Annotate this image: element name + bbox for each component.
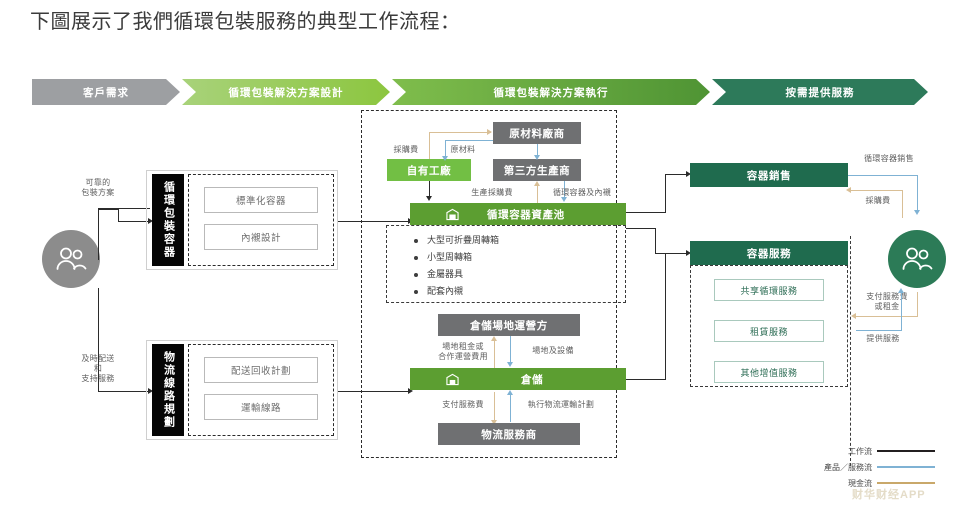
reliable-packaging-note-line1: 可靠的 (62, 178, 134, 188)
arrow-raw-material (442, 156, 448, 161)
own-factory-box[interactable]: 自有工廠 (387, 159, 471, 181)
right-dashed-divider (850, 236, 851, 466)
watermark: 财华财经APP (852, 486, 957, 502)
label-containers-and-liners: 循環容器及內襯 (545, 188, 619, 198)
line-purchase-fee-right-h (851, 190, 903, 191)
label-site-and-equipment: 場地及設備 (516, 346, 590, 356)
line-persona-corner-h (98, 209, 118, 210)
logistics-item-transport-route[interactable]: 運輸線路 (204, 394, 318, 420)
legend: 工作流 產品／服務流 現金流 (795, 443, 935, 491)
logistics-provider-box[interactable]: 物流服務商 (438, 423, 580, 445)
arrow-site-equipment (507, 362, 513, 367)
page-title: 下圖展示了我們循環包裝服務的典型工作流程： (30, 8, 930, 36)
line-pay-service-fee-center (494, 392, 495, 422)
label-pay-fee-line1: 支付服務費 (858, 292, 916, 302)
banner-step-4[interactable]: 按需提供服務 (712, 79, 928, 105)
bullet-dot (414, 256, 418, 260)
asset-item-row: 金屬器具 (414, 266, 614, 283)
line-purchase-fee-h (429, 132, 491, 133)
legend-line-workflow (877, 450, 935, 452)
arrow-purchase-fee (487, 129, 492, 135)
customer-persona-left (42, 230, 100, 288)
label-pay-fee-line2: 或租金 (858, 302, 916, 312)
line-persona-down-to-packaging (118, 208, 119, 222)
packaging-item-standard-container[interactable]: 標準化容器 (204, 187, 318, 213)
asset-item-row: 大型可折疊周轉箱 (414, 232, 614, 249)
banner-step-1[interactable]: 客戶需求 (32, 79, 180, 105)
label-site-rent-line2: 合作運營費用 (432, 352, 494, 362)
logistics-group-vertical-label: 物流線路規劃 (152, 344, 184, 436)
arrow-container-sales-flow (914, 210, 920, 215)
container-sales-box[interactable]: 容器銷售 (690, 163, 848, 187)
asset-item-4: 配套內襯 (427, 286, 463, 296)
line-center-in-bottom (362, 391, 410, 392)
line-container-sales-flow-v (917, 175, 918, 212)
asset-item-2: 小型周轉箱 (427, 252, 472, 262)
diagram-canvas: 下圖展示了我們循環包裝服務的典型工作流程： 客戶需求 循環包裝解決方案設計 循環… (0, 0, 960, 508)
legend-line-cash (877, 482, 935, 484)
arrow-purchase-fee-right (846, 187, 851, 193)
banner-step-3[interactable]: 循環包裝解決方案執行 (392, 79, 710, 105)
line-raw-material-h (445, 140, 493, 141)
line-pay-fee-or-rent-h (856, 316, 917, 317)
arrow-factory-to-pool (426, 196, 432, 201)
line-persona-corner-top (98, 208, 99, 222)
bullet-dot (414, 273, 418, 277)
warehouse-box[interactable]: 倉儲 (410, 368, 626, 390)
line-pool-to-services (655, 253, 689, 254)
line-provide-service-v (901, 292, 902, 330)
line-pay-fee-or-rent-v (917, 292, 918, 317)
packaging-group-vertical-label: 循環包裝容器 (152, 174, 184, 266)
label-provide-service: 提供服務 (852, 334, 914, 344)
reliable-packaging-note-line2: 包裝方案 (62, 188, 134, 198)
arrow-execute-transport (507, 390, 513, 395)
line-persona-down (98, 288, 99, 392)
line-execute-transport (510, 392, 511, 422)
line-site-equipment (510, 336, 511, 364)
warehouse-operator-box[interactable]: 倉儲場地運營方 (438, 314, 580, 336)
line-center-in-top (362, 221, 410, 222)
warehouse-label: 倉儲 (521, 372, 543, 387)
asset-item-3: 金屬器具 (427, 269, 463, 279)
packaging-item-liner-design[interactable]: 內襯設計 (204, 224, 318, 250)
label-execute-transport-plan: 執行物流運輸計劃 (514, 400, 608, 410)
line-warehouse-right (626, 379, 666, 380)
legend-row-product-service: 產品／服務流 (795, 459, 935, 475)
line-factory-to-pool (429, 181, 430, 197)
label-container-sales-flow: 循環容器銷售 (850, 154, 928, 164)
label-purchase-fee: 採購費 (383, 145, 429, 155)
line-pool-right (626, 212, 666, 213)
asset-item-row: 小型周轉箱 (414, 249, 614, 266)
container-services-box[interactable]: 容器服務 (690, 241, 848, 265)
label-raw-material: 原材料 (440, 145, 486, 155)
process-banner: 客戶需求 循環包裝解決方案設計 循環包裝解決方案執行 按需提供服務 (32, 79, 928, 105)
raw-material-supplier-box[interactable]: 原材料廠商 (493, 122, 581, 144)
banner-step-2-label: 循環包裝解決方案設計 (229, 85, 344, 100)
arrow-site-rent (491, 336, 497, 341)
label-site-rent: 場地租金或 合作運營費用 (432, 342, 494, 362)
legend-label-workflow: 工作流 (848, 446, 872, 457)
label-production-purchase-fee: 生產採購費 (452, 188, 532, 198)
line-provide-service-h (856, 330, 902, 331)
container-pool-icon (446, 208, 459, 221)
reliable-packaging-note: 可靠的 包裝方案 (62, 178, 134, 198)
banner-step-4-label: 按需提供服務 (786, 85, 855, 100)
legend-line-product-service (877, 466, 935, 468)
legend-label-product-service: 產品／服務流 (824, 462, 872, 473)
line-site-rent (494, 340, 495, 368)
bullet-dot (414, 239, 418, 243)
label-purchase-fee-right: 採購費 (850, 196, 906, 206)
line-packaging-to-center (338, 221, 362, 222)
line-pool-down-2 (655, 228, 656, 254)
warehouse-icon (446, 373, 459, 386)
arrow-rm-to-3p (534, 155, 540, 160)
asset-items-list: 大型可折疊周轉箱 小型周轉箱 金屬器具 配套內襯 (414, 232, 614, 300)
service-item-other-value-added[interactable]: 其他增值服務 (714, 361, 824, 383)
customer-persona-right (888, 230, 946, 288)
arrow-production-fee (534, 181, 540, 186)
service-item-shared-circulation[interactable]: 共享循環服務 (714, 279, 824, 301)
label-pay-service-fee-or-rent: 支付服務費 或租金 (858, 292, 916, 312)
logistics-item-delivery-recovery-plan[interactable]: 配送回收計劃 (204, 357, 318, 383)
asset-pool-label: 循環容器資產池 (487, 207, 565, 222)
third-party-manufacturer-box[interactable]: 第三方生產商 (493, 159, 581, 181)
arrow-pay-fee-or-rent (851, 313, 856, 319)
line-persona-corner-bottom (98, 391, 118, 392)
asset-pool-box[interactable]: 循環容器資產池 (410, 203, 626, 225)
customers-icon (54, 246, 88, 272)
arrow-provide-service (898, 288, 904, 293)
label-pay-service-fee-center: 支付服務費 (432, 400, 494, 410)
bullet-dot (414, 290, 418, 294)
line-production-fee (537, 185, 538, 203)
line-container-sales-flow-h (848, 175, 918, 176)
customers-icon (900, 246, 934, 272)
asset-item-row: 配套內襯 (414, 283, 614, 300)
banner-step-1-label: 客戶需求 (83, 85, 129, 100)
banner-step-2[interactable]: 循環包裝解決方案設計 (182, 79, 390, 105)
line-warehouse-up (665, 253, 666, 379)
banner-step-3-label: 循環包裝解決方案執行 (494, 85, 609, 100)
line-pool-up (665, 174, 666, 212)
line-logistics-to-center (338, 391, 362, 392)
service-item-leasing[interactable]: 租賃服務 (714, 320, 824, 342)
label-site-rent-line1: 場地租金或 (432, 342, 494, 352)
line-pool-right-2 (626, 228, 656, 229)
line-purchase-fee-v (429, 132, 430, 159)
asset-item-1: 大型可折疊周轉箱 (427, 235, 499, 245)
legend-row-workflow: 工作流 (795, 443, 935, 459)
